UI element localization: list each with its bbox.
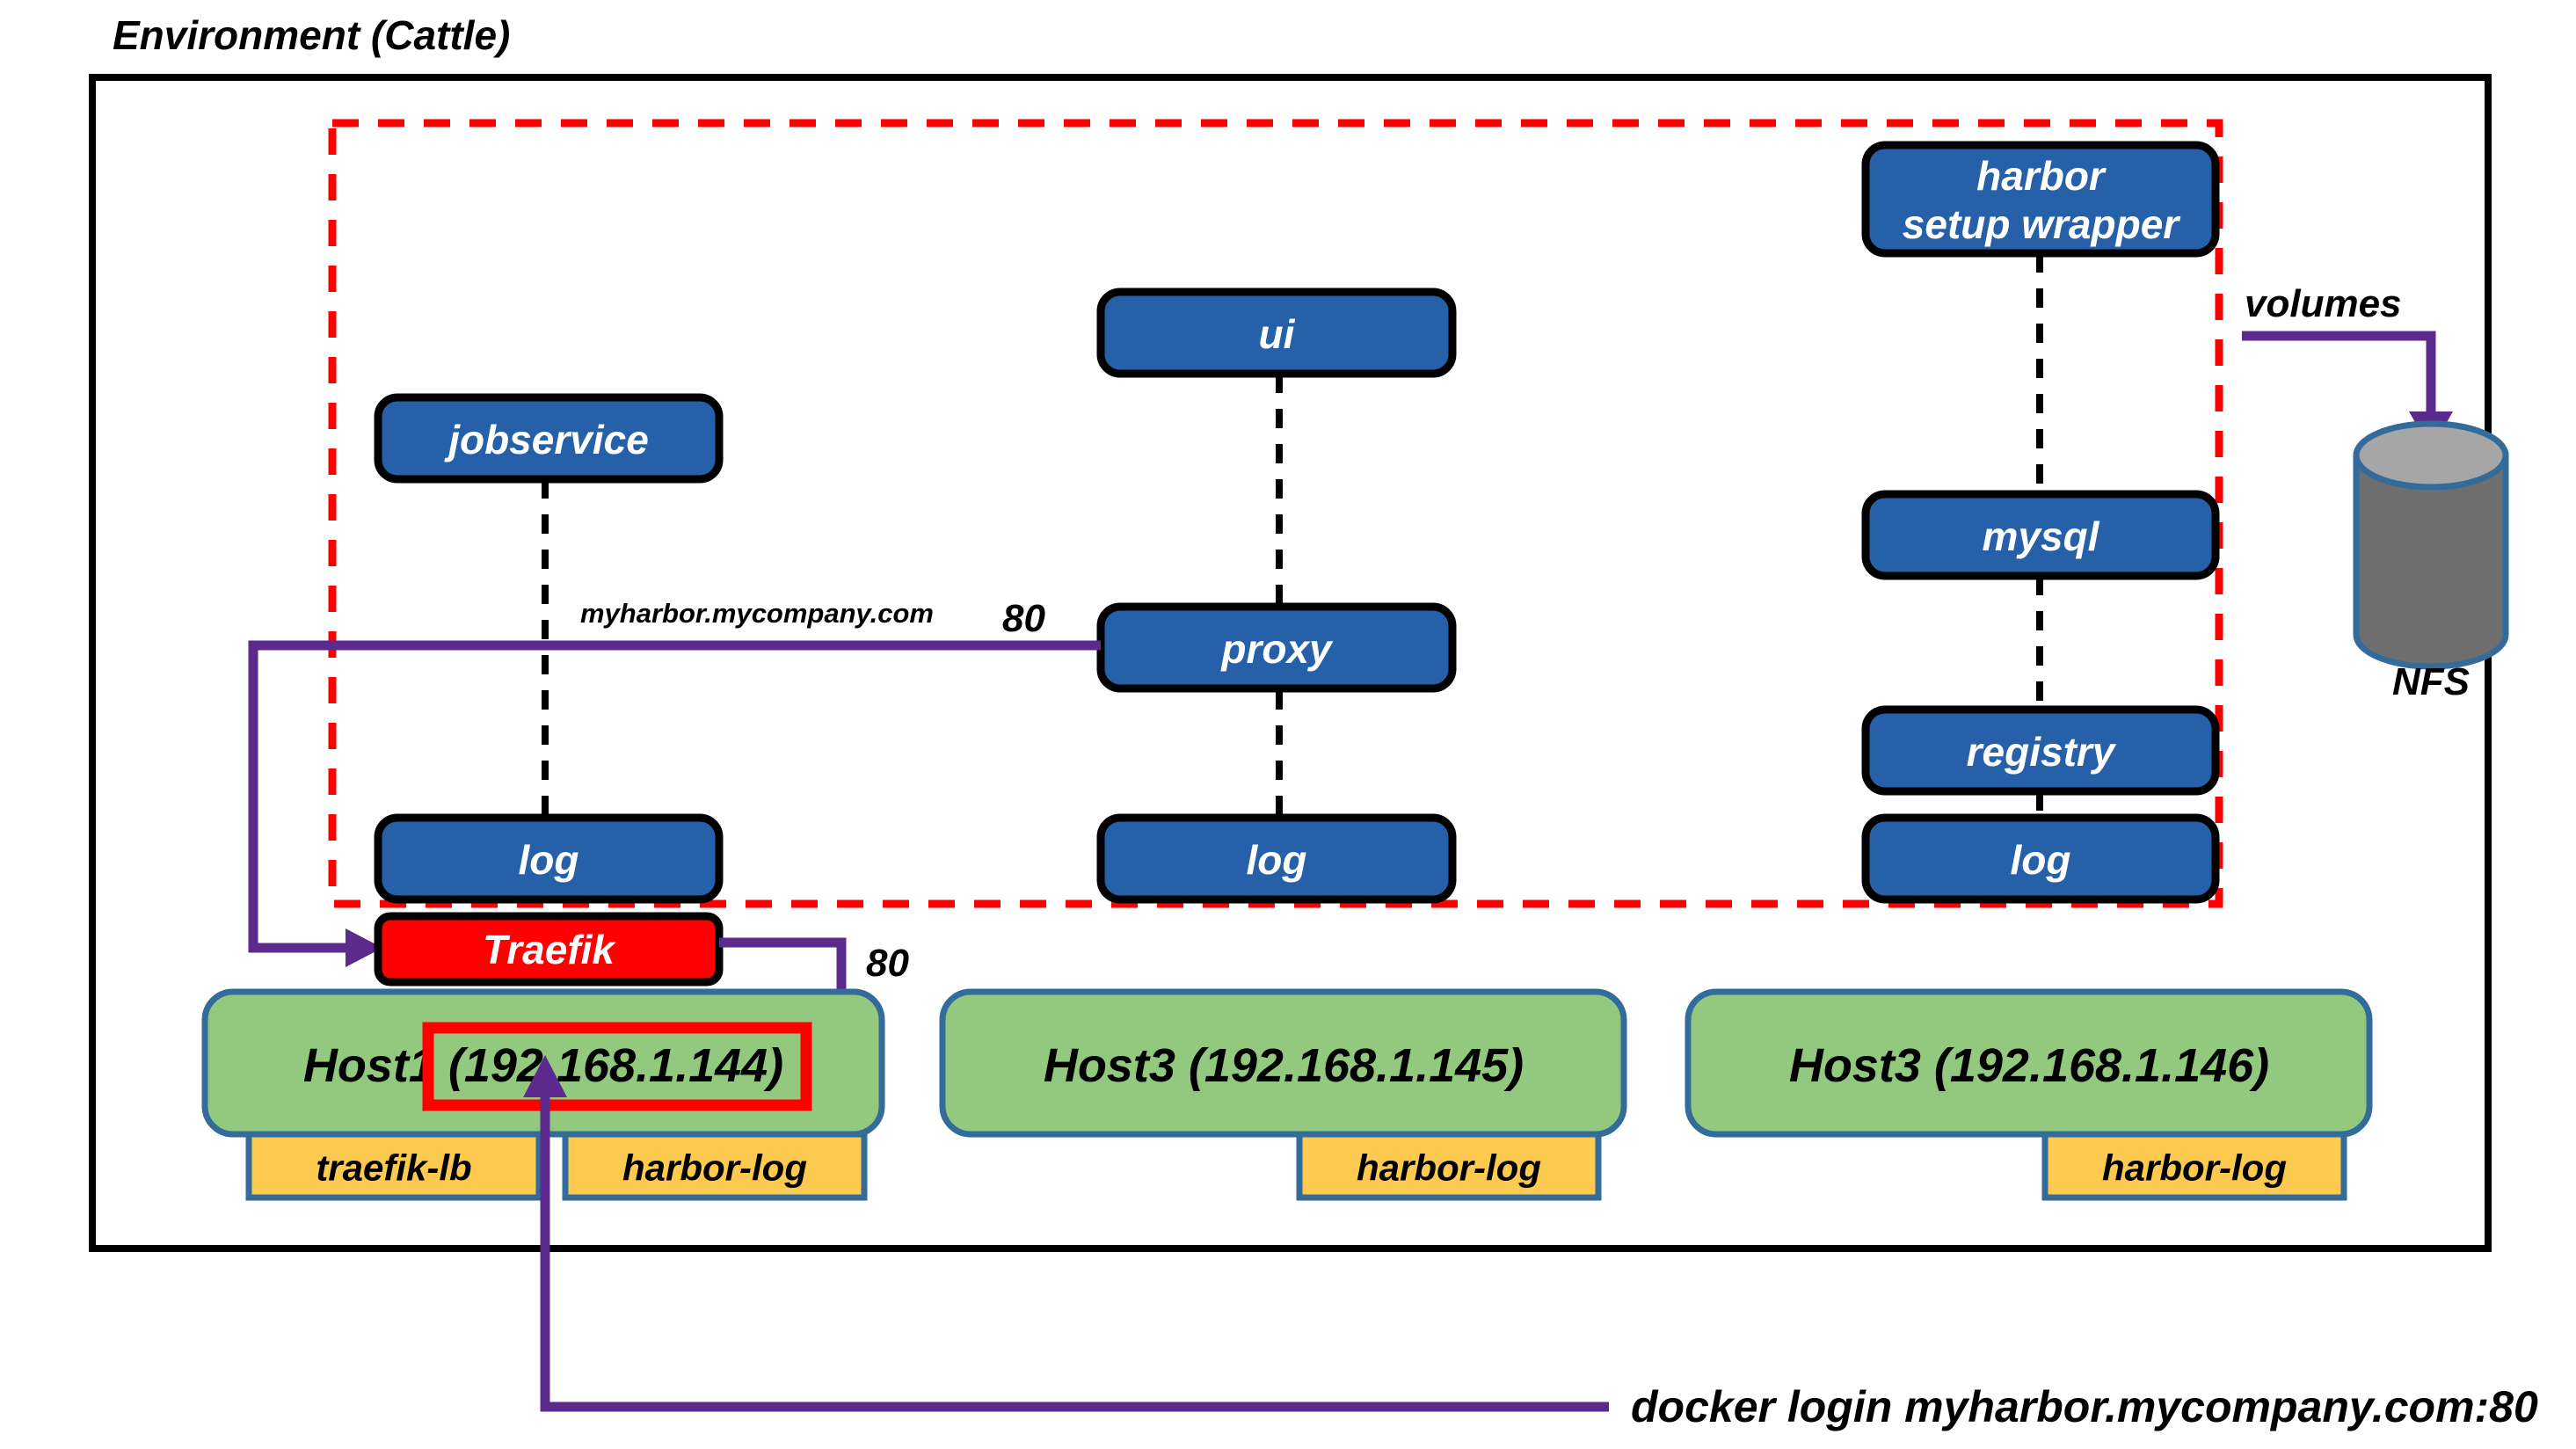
- node-proxy[interactable]: proxy: [1101, 607, 1452, 688]
- node-harbor-setup-wrapper[interactable]: harbor setup wrapper: [1866, 145, 2216, 253]
- stack-traefik-lb[interactable]: traefik-lb: [249, 1134, 539, 1198]
- node-registry-log-label: log: [2011, 837, 2071, 883]
- node-registry[interactable]: registry: [1866, 710, 2216, 791]
- proxy-port-label: 80: [1002, 597, 1045, 640]
- node-harbor-setup-wrapper-label-line2: setup wrapper: [1903, 201, 2181, 247]
- node-jobservice-log[interactable]: log: [378, 818, 719, 899]
- node-mysql-label: mysql: [1983, 513, 2100, 559]
- node-proxy-log-label: log: [1247, 837, 1307, 883]
- stack-harbor-log-host1-label: harbor-log: [622, 1147, 807, 1189]
- node-traefik-label: Traefik: [483, 927, 616, 972]
- volumes-label: volumes: [2245, 282, 2402, 325]
- node-harbor-setup-wrapper-label-line1: harbor: [1976, 153, 2107, 199]
- stack-harbor-log-host2[interactable]: harbor-log: [1299, 1134, 1598, 1198]
- stack-harbor-log-host3[interactable]: harbor-log: [2045, 1134, 2344, 1198]
- hostname-label: myharbor.mycompany.com: [580, 598, 934, 629]
- host-box-2[interactable]: Host3 (192.168.1.145): [942, 992, 1624, 1134]
- node-proxy-log[interactable]: log: [1101, 818, 1452, 899]
- docker-login-command: docker login myharbor.mycompany.com:80: [1631, 1382, 2538, 1431]
- node-registry-log[interactable]: log: [1866, 818, 2216, 899]
- volumes-to-nfs-arrow: [2242, 336, 2431, 418]
- nfs-label: NFS: [2392, 660, 2470, 703]
- environment-title: Environment (Cattle): [113, 12, 510, 58]
- node-ui-label: ui: [1259, 311, 1296, 357]
- traefik-port-label: 80: [866, 942, 909, 985]
- stack-harbor-log-host2-label: harbor-log: [1357, 1147, 1541, 1189]
- node-registry-label: registry: [1967, 729, 2117, 775]
- node-jobservice[interactable]: jobservice: [378, 397, 719, 479]
- architecture-diagram: Environment (Cattle) jobservice log ui p…: [0, 0, 2576, 1449]
- host-3-label: Host3 (192.168.1.146): [1789, 1039, 2269, 1092]
- nfs-cylinder: [2356, 424, 2506, 666]
- host-2-label: Host3 (192.168.1.145): [1044, 1039, 1524, 1092]
- stack-harbor-log-host3-label: harbor-log: [2102, 1147, 2287, 1189]
- node-jobservice-log-label: log: [519, 837, 579, 883]
- node-ui[interactable]: ui: [1101, 292, 1452, 374]
- host-box-3[interactable]: Host3 (192.168.1.146): [1688, 992, 2369, 1134]
- node-jobservice-label: jobservice: [444, 417, 649, 462]
- stack-harbor-log-host1[interactable]: harbor-log: [565, 1134, 864, 1198]
- node-proxy-label: proxy: [1219, 626, 1334, 672]
- node-mysql[interactable]: mysql: [1866, 494, 2216, 576]
- stack-traefik-lb-label: traefik-lb: [316, 1147, 471, 1189]
- node-traefik[interactable]: Traefik: [378, 916, 719, 982]
